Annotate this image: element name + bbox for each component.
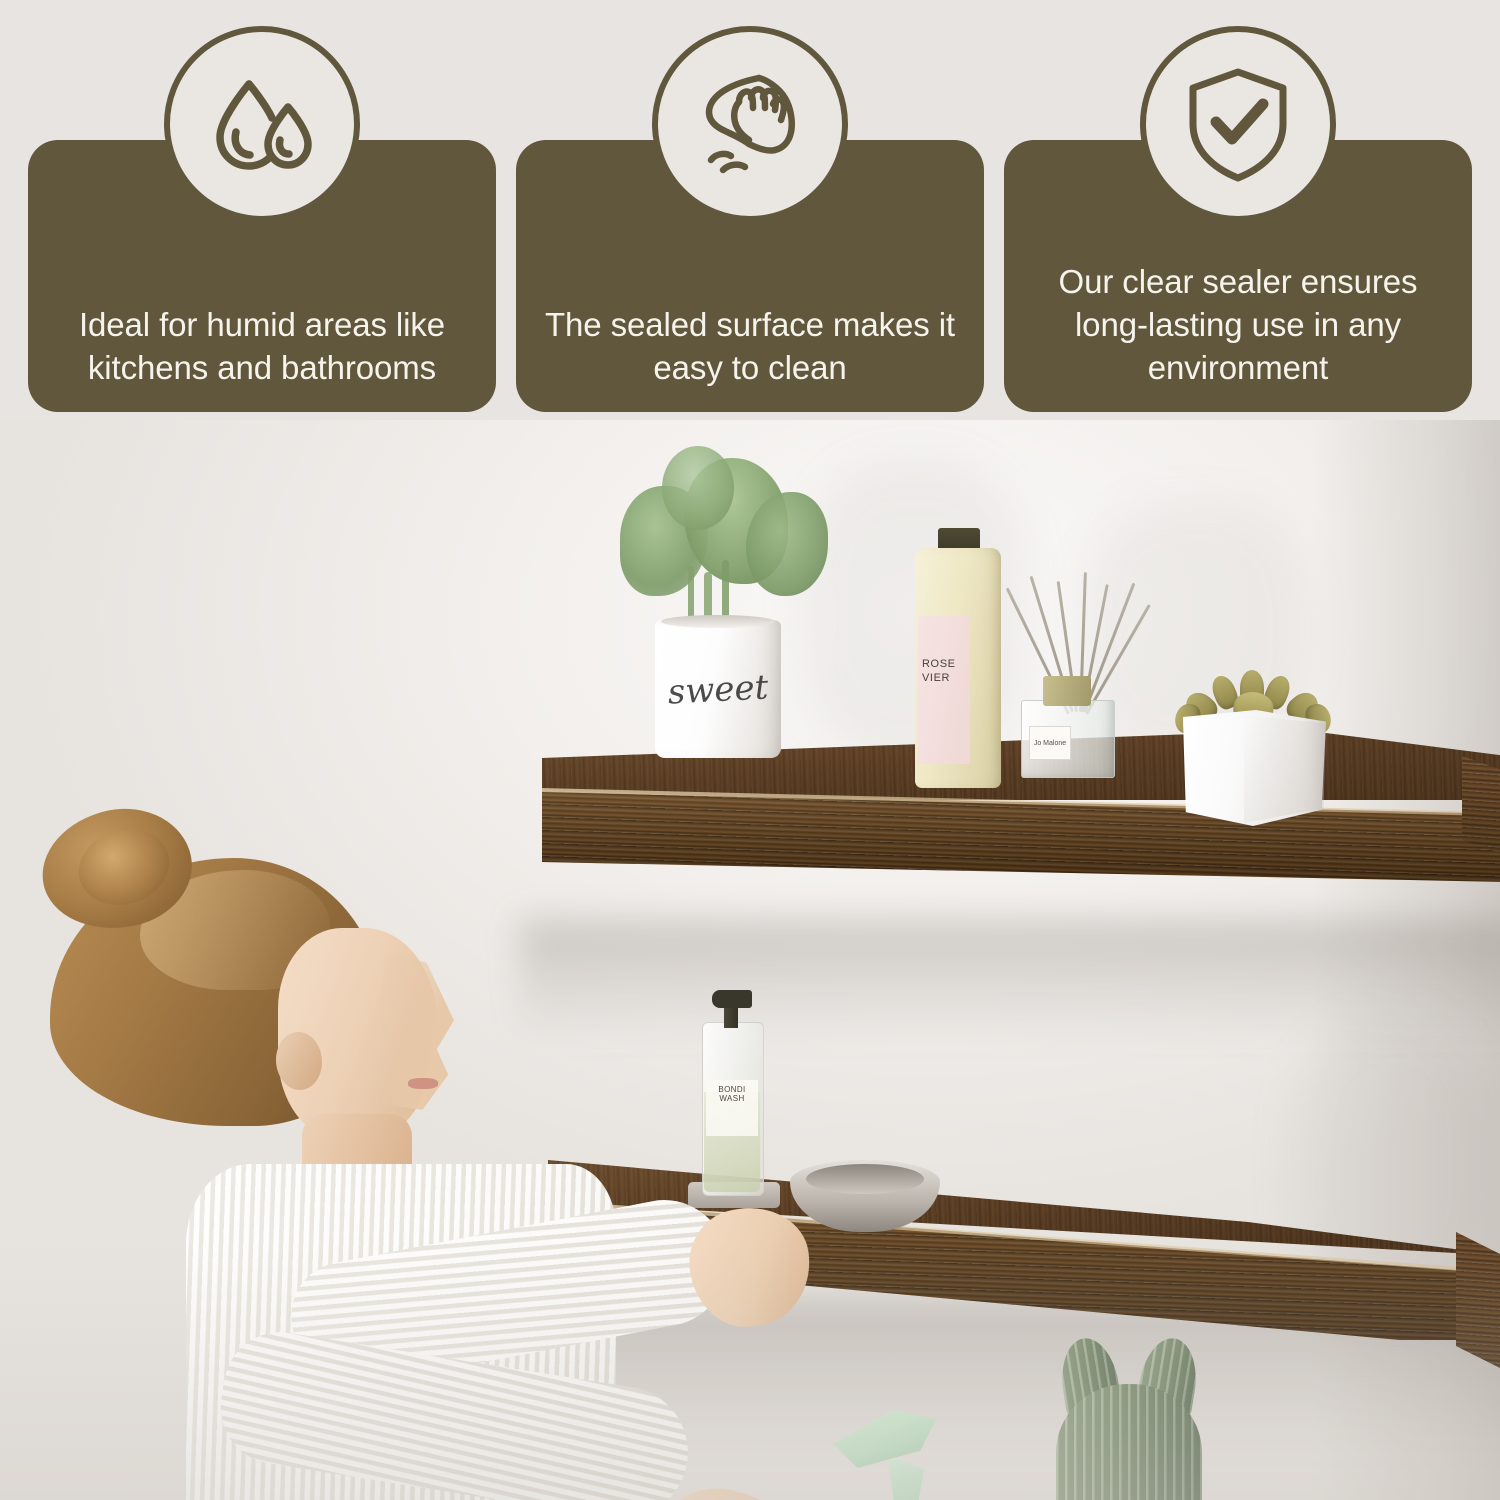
airy-green-plant	[600, 440, 840, 640]
ear	[276, 1032, 322, 1090]
diffuser-label: Jo Malone	[1029, 726, 1071, 760]
diffuser-collar	[1043, 676, 1091, 706]
feature-card-row: Ideal for humid areas like kitchens and …	[0, 0, 1500, 420]
shield-check-icon	[1140, 26, 1336, 222]
lips	[408, 1078, 438, 1089]
feature-card-label: Our clear sealer ensures long-lasting us…	[1004, 261, 1472, 390]
bottle-label: ROSE VIER	[918, 616, 970, 764]
planter-script-text: sweet	[652, 667, 784, 714]
floor-gradient	[0, 1240, 1500, 1500]
bottle-label-text: ROSE VIER	[922, 658, 968, 686]
pot-facet-shade	[1244, 712, 1326, 824]
product-lifestyle-photo: sweet ROSE VIER Jo Malone	[0, 420, 1500, 1500]
feature-card-label: Ideal for humid areas like kitchens and …	[28, 304, 496, 390]
feature-card-label: The sealed surface makes it easy to clea…	[516, 304, 984, 390]
water-drops-icon	[164, 26, 360, 222]
product-feature-image: Ideal for humid areas like kitchens and …	[0, 0, 1500, 1500]
hand-wiping-cloth-icon	[652, 26, 848, 222]
